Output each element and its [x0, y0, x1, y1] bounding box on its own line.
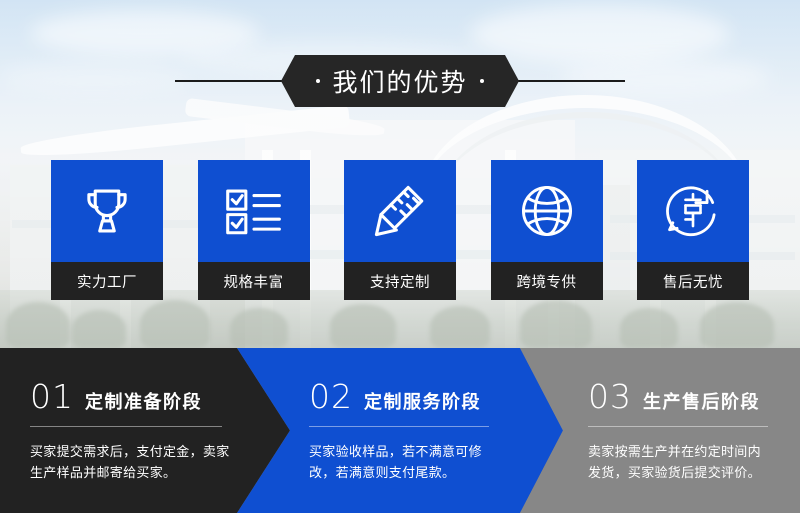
header-rule-right	[513, 80, 625, 82]
after-sales-icon	[663, 181, 723, 241]
pencil-ruler-icon	[371, 182, 429, 240]
bullet-dot-right-icon	[480, 79, 484, 83]
feature-card-strength-factory[interactable]: 实力工厂	[51, 160, 163, 300]
feature-icon-box	[51, 160, 163, 262]
step-heading: 02 定制服务阶段	[309, 380, 563, 413]
process-step-1: 01 定制准备阶段 买家提交需求后，支付定金，卖家生产样品并邮寄给买家。	[0, 348, 290, 513]
feature-card-customization[interactable]: 支持定制	[344, 160, 456, 300]
step-divider	[309, 426, 489, 427]
feature-label: 规格丰富	[198, 262, 310, 300]
feature-icon-box	[344, 160, 456, 262]
step-number: 01	[30, 380, 74, 413]
globe-icon	[518, 182, 576, 240]
feature-icon-box	[637, 160, 749, 262]
step-heading: 03 生产售后阶段	[588, 380, 800, 413]
step-heading: 01 定制准备阶段	[30, 380, 290, 413]
step-description: 卖家按需生产并在约定时间内发货，买家验货后提交评价。	[588, 441, 774, 483]
feature-card-rich-specs[interactable]: 规格丰富	[198, 160, 310, 300]
bullet-dot-left-icon	[316, 79, 320, 83]
feature-card-cross-border[interactable]: 跨境专供	[491, 160, 603, 300]
page-title: 我们的优势	[332, 63, 467, 99]
feature-icon-box	[198, 160, 310, 262]
feature-label: 售后无忧	[637, 262, 749, 300]
step-title: 定制准备阶段	[85, 393, 202, 411]
step-description: 买家验收样品，若不满意可修改，若满意则支付尾款。	[309, 441, 499, 483]
step-number: 02	[309, 380, 353, 413]
step-divider	[588, 426, 768, 427]
step-divider	[30, 426, 222, 427]
feature-card-after-sales[interactable]: 售后无忧	[637, 160, 749, 300]
process-steps: 01 定制准备阶段 买家提交需求后，支付定金，卖家生产样品并邮寄给买家。 02 …	[0, 348, 800, 513]
trophy-icon	[78, 182, 136, 240]
step-number: 03	[588, 380, 632, 413]
checklist-icon	[225, 186, 283, 236]
feature-label: 实力工厂	[51, 262, 163, 300]
step-description: 买家提交需求后，支付定金，卖家生产样品并邮寄给买家。	[30, 441, 230, 483]
section-title-banner: 我们的优势	[281, 55, 519, 107]
feature-label: 跨境专供	[491, 262, 603, 300]
step-title: 定制服务阶段	[364, 393, 481, 411]
feature-icon-box	[491, 160, 603, 262]
feature-card-list: 实力工厂 规格丰富	[51, 160, 749, 300]
feature-label: 支持定制	[344, 262, 456, 300]
step-title: 生产售后阶段	[643, 393, 760, 411]
header-rule-left	[175, 80, 287, 82]
advantages-banner: 我们的优势 实力工厂	[0, 0, 800, 513]
section-header: 我们的优势	[0, 55, 800, 107]
